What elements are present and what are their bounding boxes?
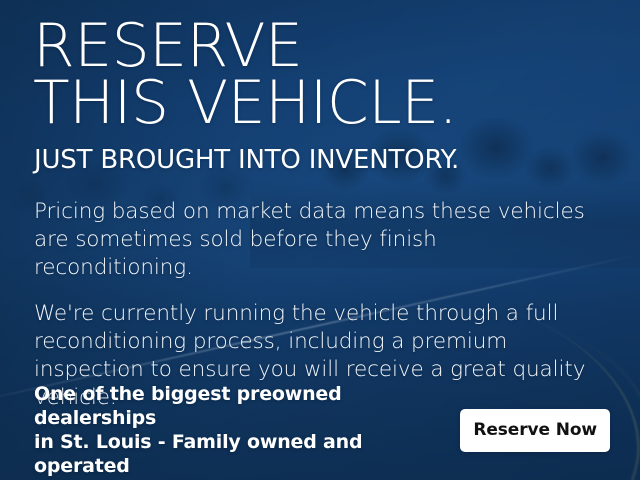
subheadline: JUST BROUGHT INTO INVENTORY. xyxy=(34,145,459,175)
headline: RESERVE THIS VEHICLE. xyxy=(33,18,457,132)
reserve-vehicle-ad-banner: RESERVE THIS VEHICLE. JUST BROUGHT INTO … xyxy=(0,0,640,480)
body-copy: Pricing based on market data means these… xyxy=(34,198,594,412)
banner-footer: One of the biggest preowned dealerships … xyxy=(0,400,640,460)
body-paragraph: Pricing based on market data means these… xyxy=(34,198,594,282)
reserve-now-button[interactable]: Reserve Now xyxy=(460,409,610,452)
dealership-tagline: One of the biggest preowned dealerships … xyxy=(34,382,460,478)
banner-content: RESERVE THIS VEHICLE. JUST BROUGHT INTO … xyxy=(0,0,640,480)
